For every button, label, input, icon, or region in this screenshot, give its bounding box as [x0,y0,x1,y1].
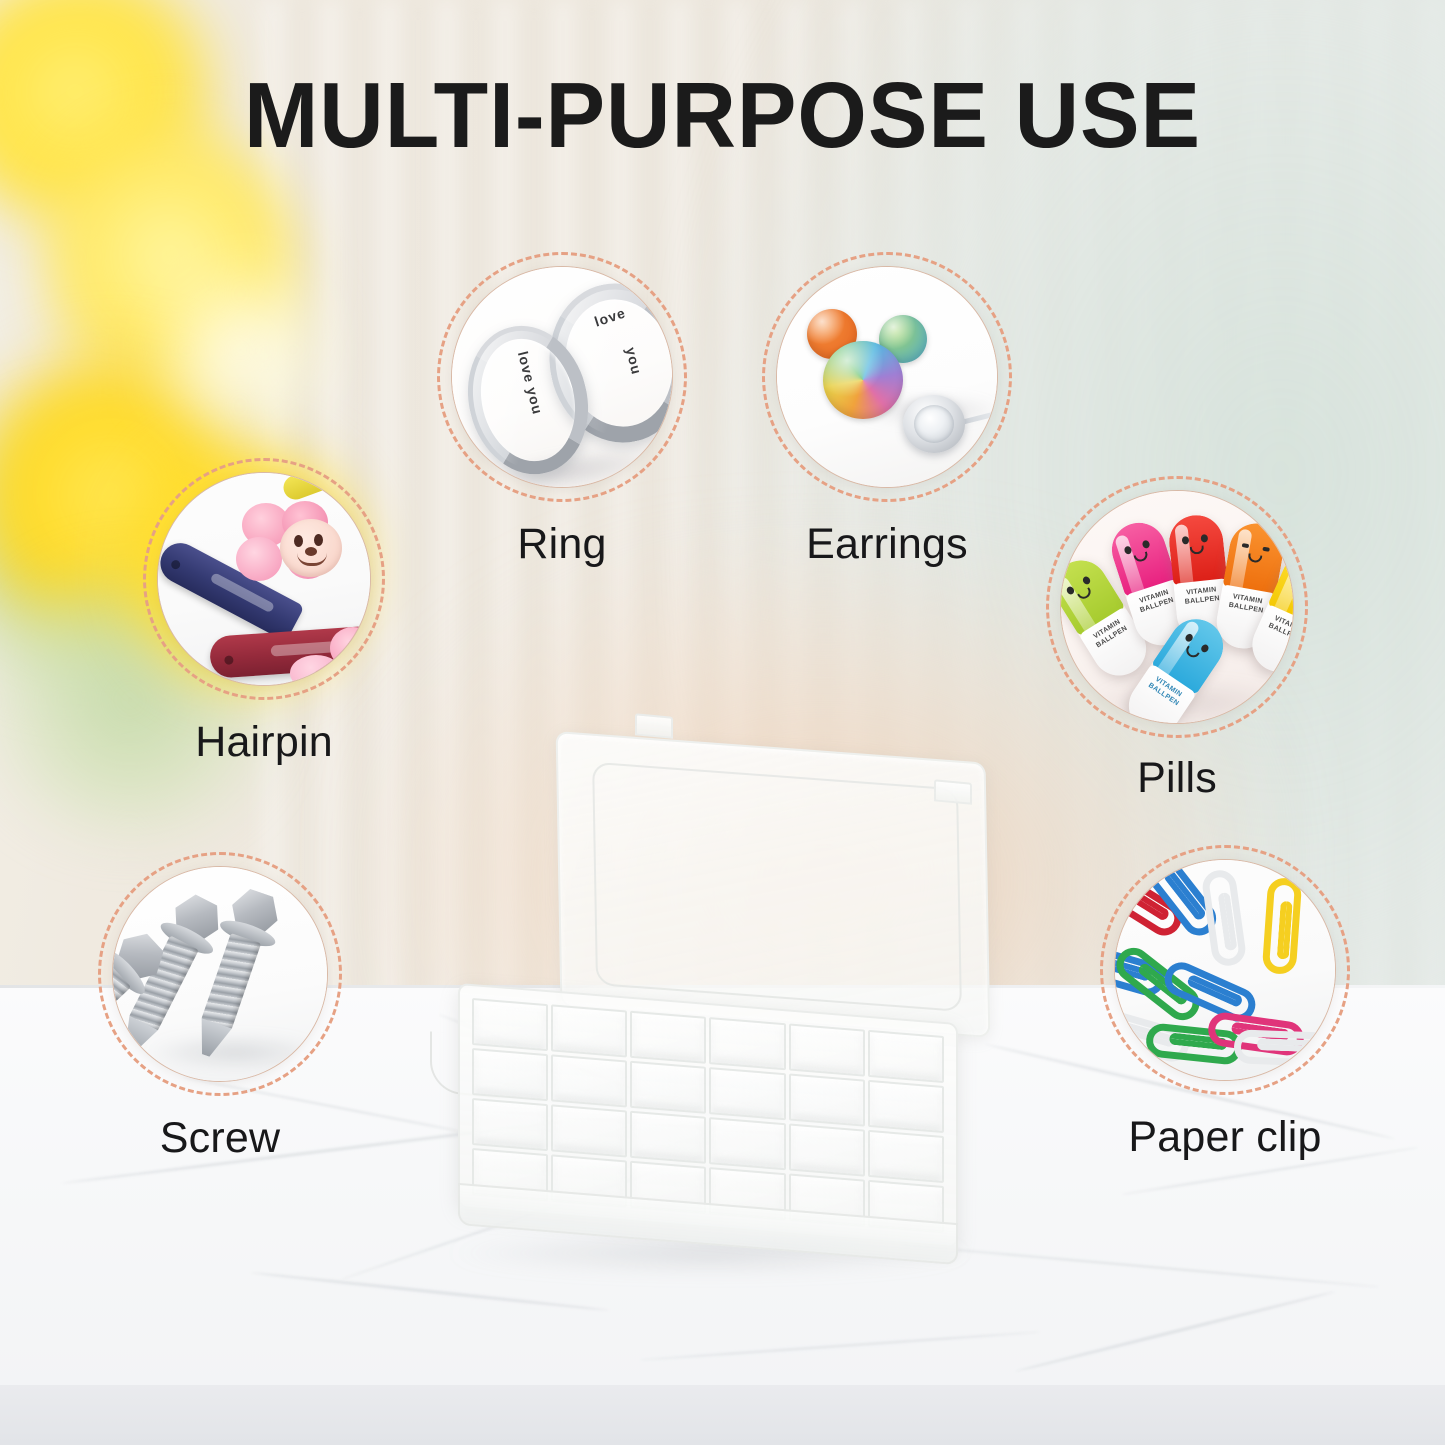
compartment-cell [472,998,548,1051]
ring-icon: love you love you [452,267,672,487]
compartment-cell [709,1017,785,1070]
ring-badge-photo-frame: love you love you [451,266,673,488]
box-lid [556,731,991,1038]
compartment-cell [630,1011,706,1064]
callout-label-ring: Ring [517,520,606,569]
compartment-cell [709,1117,785,1170]
callout-earrings: Earrings [762,252,1012,502]
screw-badge-photo-frame [112,866,328,1082]
compartment-cell [868,1030,944,1083]
compartment-cell [630,1061,706,1114]
page-title: MULTI-PURPOSE USE [29,62,1416,169]
paper-clip-badge-photo-frame [1114,859,1336,1081]
compartment-cell [868,1130,944,1183]
compartment-cell [551,1004,627,1057]
compartment-cell [789,1073,865,1126]
compartment-cell [551,1104,627,1157]
pills-badge: VITAMINBALLPEN VITAMINBALLPEN [1046,476,1308,738]
callout-label-paper-clip: Paper clip [1128,1113,1321,1162]
organizer-box [440,735,1010,1315]
callout-label-screw: Screw [160,1114,280,1163]
callout-screw: Screw [98,852,342,1096]
screw-badge [98,852,342,1096]
lid-latch-tab [635,713,673,738]
table-front-edge [0,1385,1445,1445]
paper-clip-icon [1115,860,1335,1080]
product-scene: MULTI-PURPOSE USE [0,0,1445,1445]
hairpin-badge-photo-frame [157,472,371,686]
lid-latch-tab [934,779,972,804]
callout-label-pills: Pills [1137,754,1217,803]
box-lid-inner-panel [592,762,962,1012]
compartment-cell [789,1023,865,1076]
ring-badge: love you love you [437,252,687,502]
compartment-cell [709,1067,785,1120]
paper-clip-badge [1100,845,1350,1095]
callout-hairpin: Hairpin [143,458,385,700]
pills-badge-photo-frame: VITAMINBALLPEN VITAMINBALLPEN [1060,490,1294,724]
callout-label-hairpin: Hairpin [195,718,333,767]
earrings-badge-photo-frame [776,266,998,488]
compartment-cell [630,1111,706,1164]
callout-label-earrings: Earrings [806,520,968,569]
compartment-cell [472,1098,548,1151]
pills-icon: VITAMINBALLPEN VITAMINBALLPEN [1061,491,1293,723]
blurred-highlight-icon [150,250,330,450]
earrings-badge [762,252,1012,502]
callout-pills: VITAMINBALLPEN VITAMINBALLPEN [1046,476,1308,738]
compartment-cell [789,1123,865,1176]
paper-clip-item [1262,877,1303,975]
hairpin-icon [158,473,370,685]
compartment-cell [472,1048,548,1101]
compartment-cell [551,1054,627,1107]
paper-clip-item [1233,1029,1330,1066]
screw-icon [113,867,327,1081]
compartment-cell [868,1080,944,1133]
earrings-icon [777,267,997,487]
callout-paper-clip: Paper clip [1100,845,1350,1095]
hairpin-badge [143,458,385,700]
callout-ring: love you love you Ring [437,252,687,502]
